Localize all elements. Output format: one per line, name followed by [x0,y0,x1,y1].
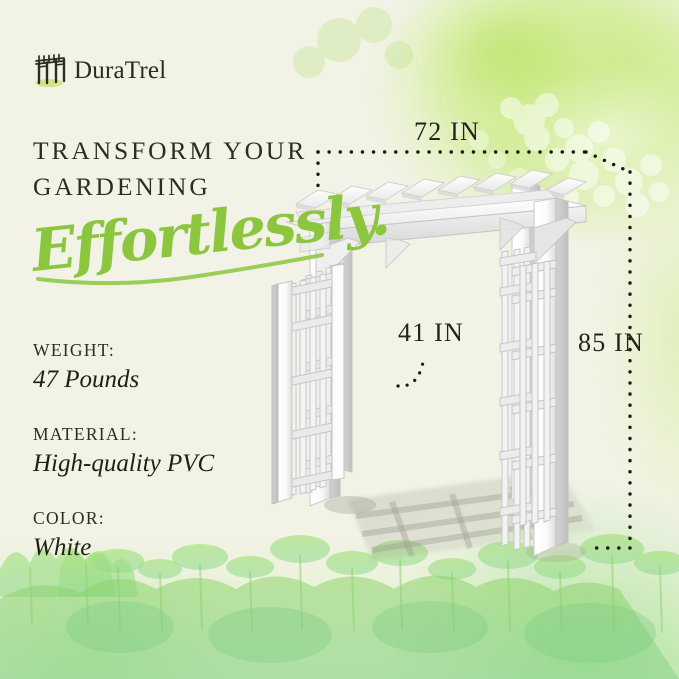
spec-item-weight: WEIGHT: 47 Pounds [33,340,333,395]
pergola-arbor-icon [33,52,67,88]
product-ground-shadow [324,470,596,562]
dimension-label-height: 85 IN [578,328,644,358]
background-wash-bottom-right [399,489,679,679]
dim-connector-top-right [586,152,630,172]
spec-label-material: MATERIAL: [33,424,333,445]
spec-value-weight: 47 Pounds [33,366,333,395]
headline-line-1: TRANSFORM YOUR [33,133,333,169]
dimension-label-width-top: 72 IN [414,117,480,147]
arbor-post-front-right [534,198,568,556]
spec-value-material: High-quality PVC [33,450,333,479]
spec-item-material: MATERIAL: High-quality PVC [33,424,333,479]
arbor-post-back-right [512,182,540,500]
spec-label-weight: WEIGHT: [33,340,333,361]
spec-value-color: White [33,534,333,563]
background-wash-right [529,150,679,570]
dim-arc-opening-width [398,356,424,386]
arbor-lattice-panel-right [500,240,536,552]
headline-script-wrapper: Effortlessly. [30,215,350,293]
spec-label-color: COLOR: [33,508,333,529]
arbor-lattice-side-right [512,258,556,560]
arbor-lattice-front-left [332,264,344,480]
brand-logo: DuraTrel [33,52,166,88]
spec-list: WEIGHT: 47 Pounds MATERIAL: High-quality… [33,340,333,591]
infographic-canvas: 72 IN 41 IN 85 IN DuraTrel [0,0,679,679]
background-highlight-top-right [509,60,679,210]
dimension-label-opening-width: 41 IN [398,318,464,348]
brand-name: DuraTrel [74,58,166,83]
spec-item-color: COLOR: White [33,508,333,563]
